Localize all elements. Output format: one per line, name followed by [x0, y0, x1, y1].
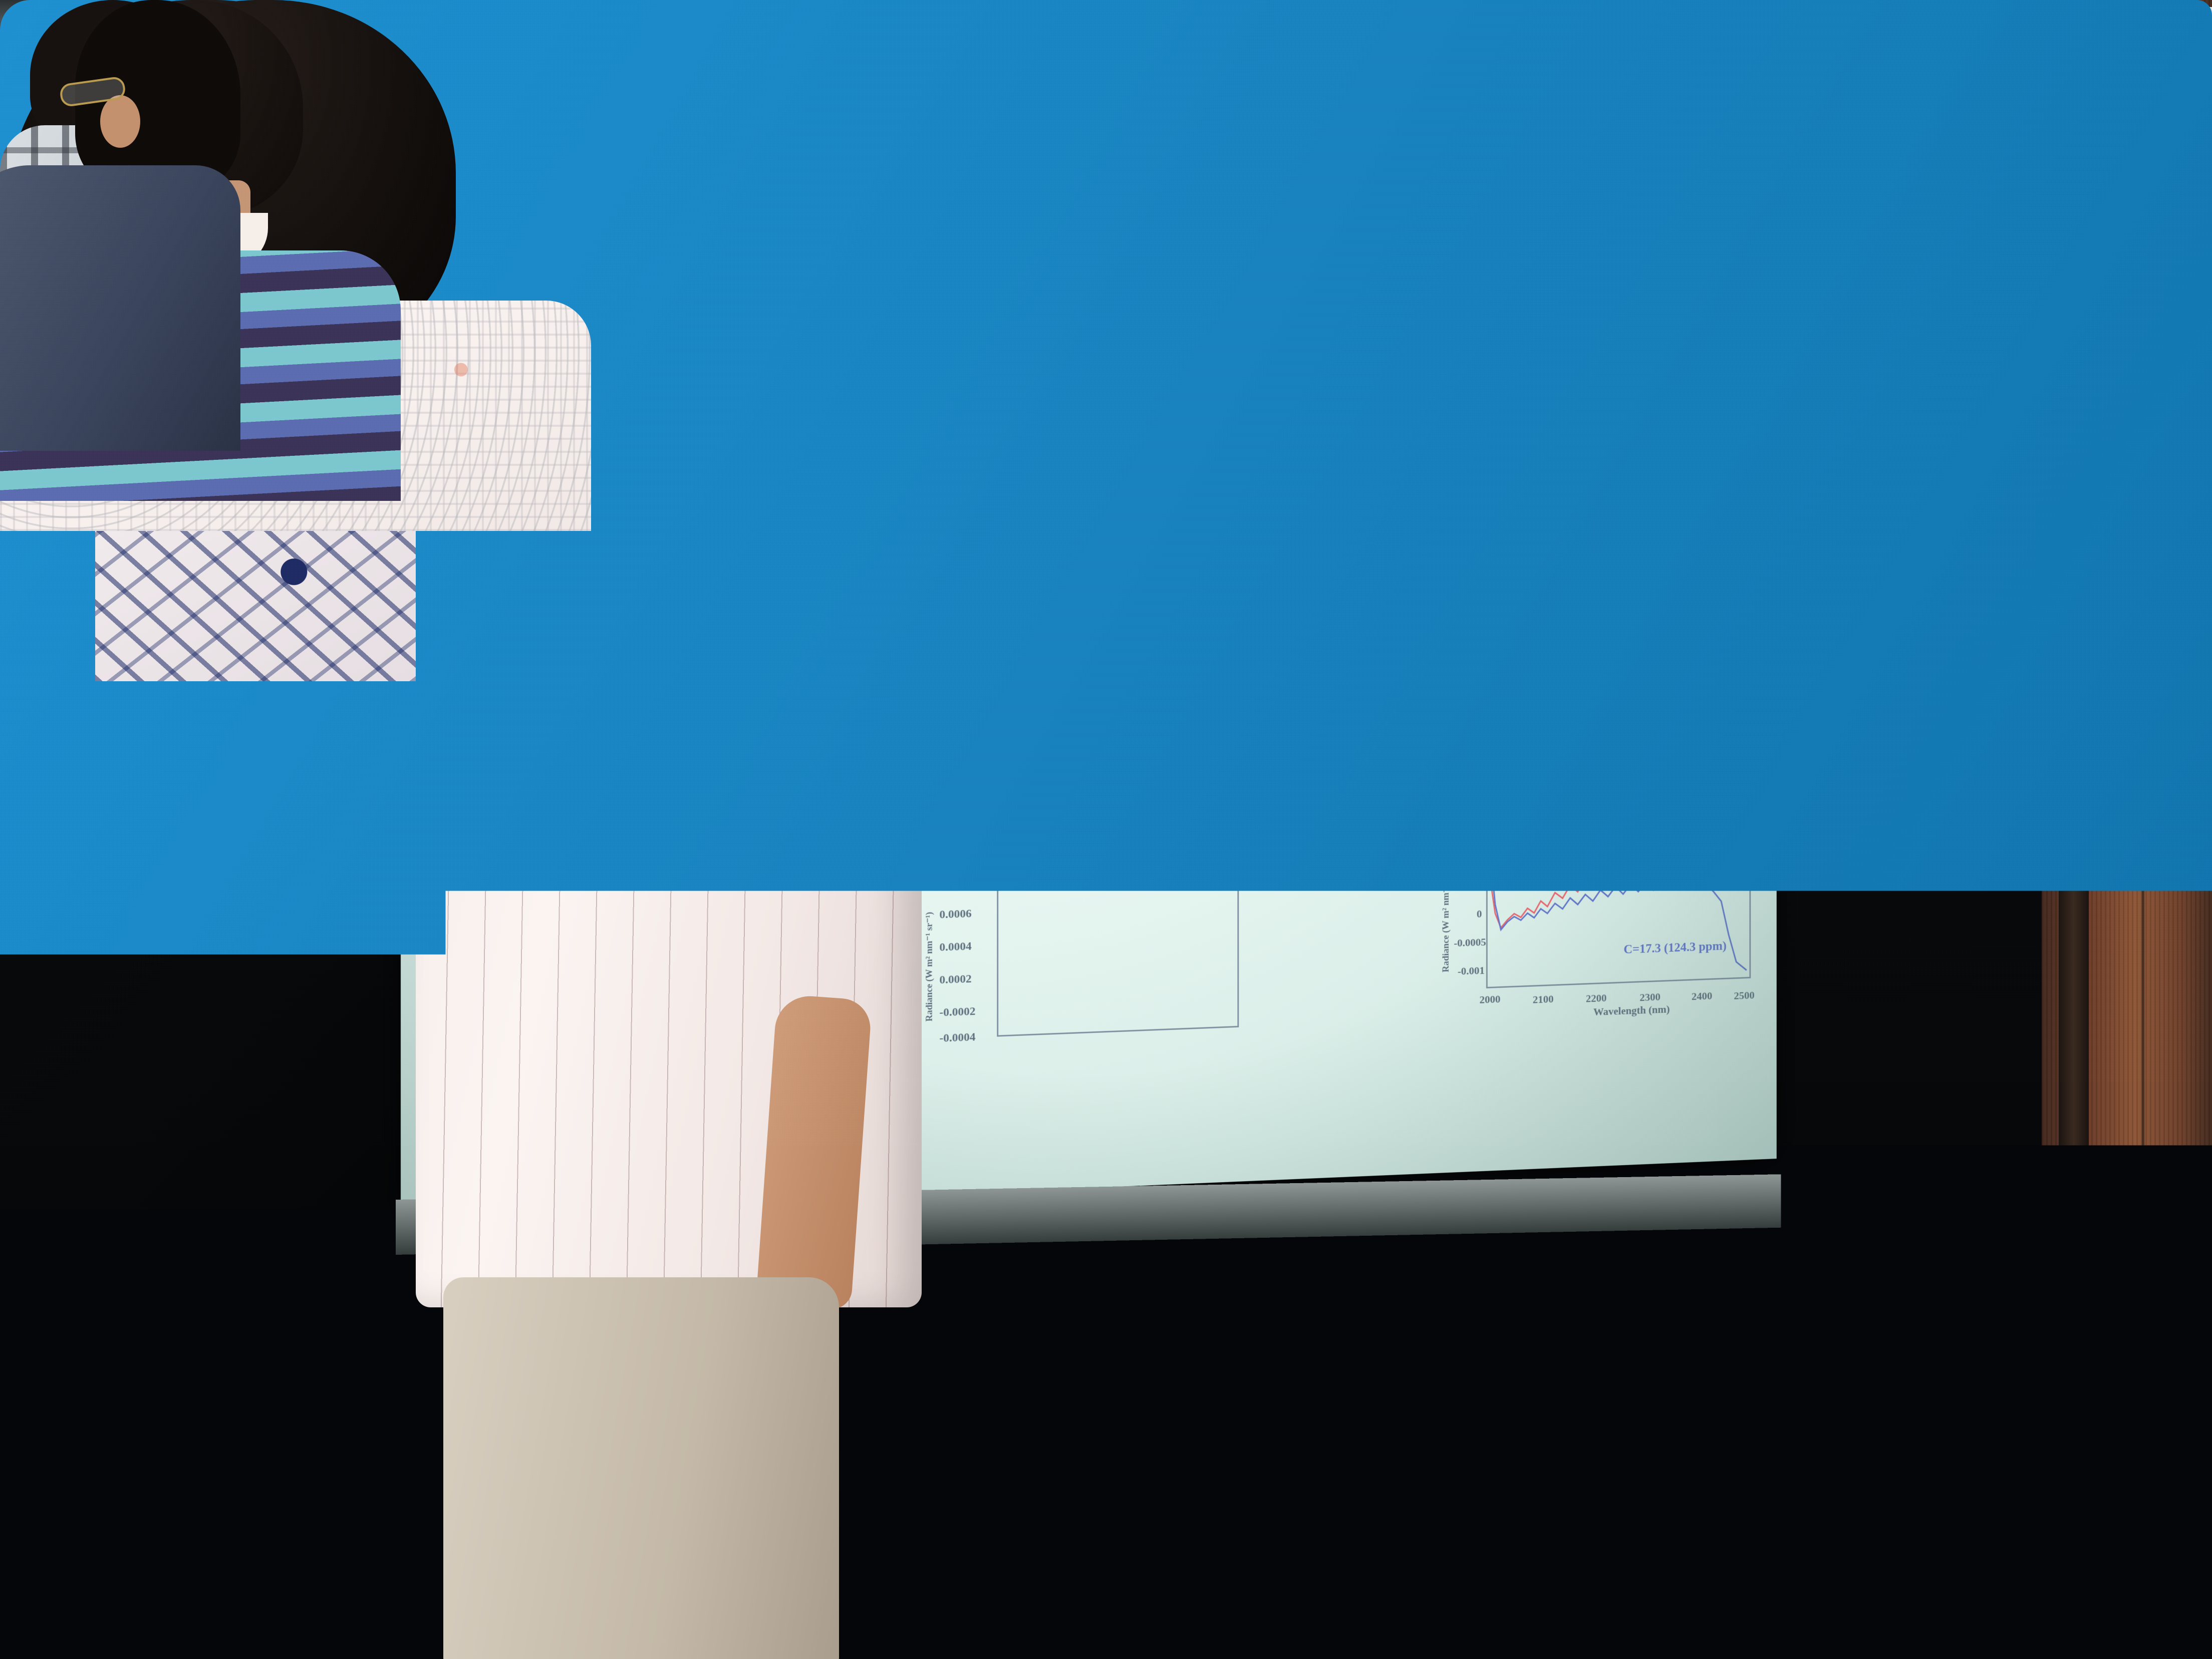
- audience-right-ear: [100, 95, 140, 148]
- podium-control-panel[interactable]: [1903, 1147, 2069, 1235]
- notebook-spiral-binding: [691, 1576, 721, 1617]
- podium[interactable]: [1853, 1067, 2134, 1458]
- lecture-hall-photo: Mapping Methane in 2008 • A v us plu bse…: [0, 0, 2212, 1659]
- podium-body: [1868, 1085, 2119, 1456]
- podium-red-object: [2089, 1062, 2124, 1092]
- audience-right-shirt: [0, 165, 240, 451]
